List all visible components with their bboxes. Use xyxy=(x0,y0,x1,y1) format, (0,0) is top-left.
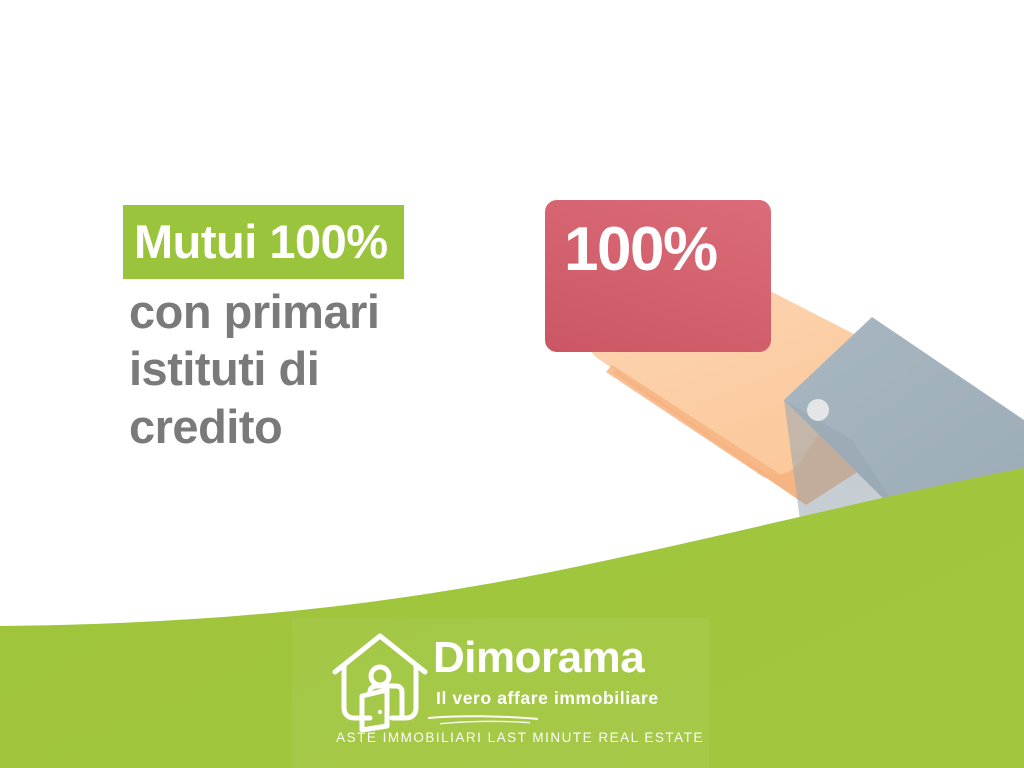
percent-badge-value: 100% xyxy=(564,219,764,281)
headline-line-1: con primari xyxy=(129,283,523,340)
headline-highlight: Mutui 100% xyxy=(123,205,404,279)
brand-services-line: ASTE IMMOBILIARI LAST MINUTE REAL ESTATE xyxy=(329,731,711,745)
headline-block: Mutui 100% con primari istituti di credi… xyxy=(123,205,523,455)
brand-wordmark: Dimorama xyxy=(433,636,644,680)
headline-line-2: istituti di xyxy=(129,340,523,397)
brand-tagline: Il vero affare immobiliare xyxy=(436,690,659,708)
brand-logo-lockup: Dimorama Il vero affare immobiliare ASTE… xyxy=(330,618,710,768)
promo-banner: Mutui 100% con primari istituti di credi… xyxy=(0,0,1024,768)
house-with-open-door-icon xyxy=(330,630,430,732)
headline-body: con primari istituti di credito xyxy=(123,283,523,455)
cuff-button-icon xyxy=(807,399,829,421)
double-underline-flourish-icon xyxy=(426,714,542,726)
headline-line-3: credito xyxy=(129,398,523,455)
